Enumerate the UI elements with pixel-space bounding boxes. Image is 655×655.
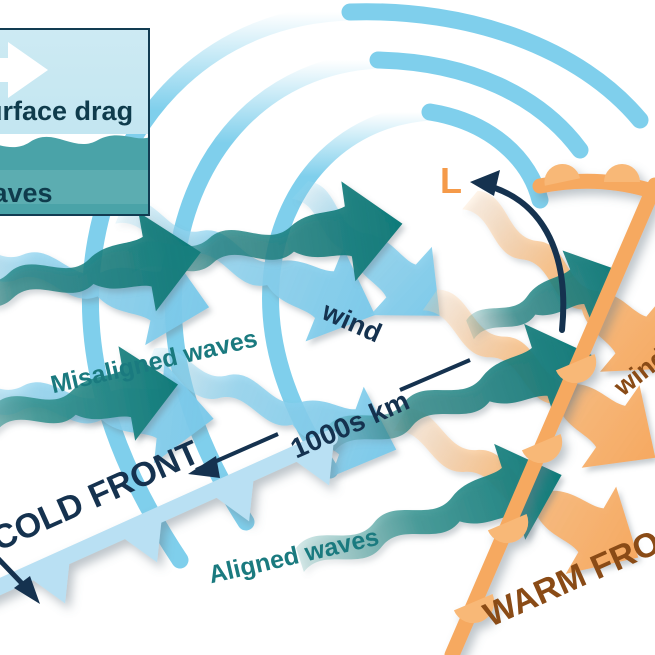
inset-water-band xyxy=(0,170,150,204)
inset-wind-arrow-icon xyxy=(0,42,48,98)
warm-front-semicircle-icon xyxy=(604,164,640,182)
inset-graphics xyxy=(0,30,150,216)
scale-arrow-line-right xyxy=(400,360,470,390)
isobar-returns xyxy=(350,12,640,200)
surface-drag-inset: Surface drag Waves xyxy=(0,28,150,216)
cyclonic-wind-arrow-head xyxy=(470,170,500,196)
cold-front-pip-group xyxy=(30,442,350,613)
diagram-canvas: Surface drag Waves L wind wind 1000s km … xyxy=(0,0,655,655)
cold-front xyxy=(0,438,349,612)
